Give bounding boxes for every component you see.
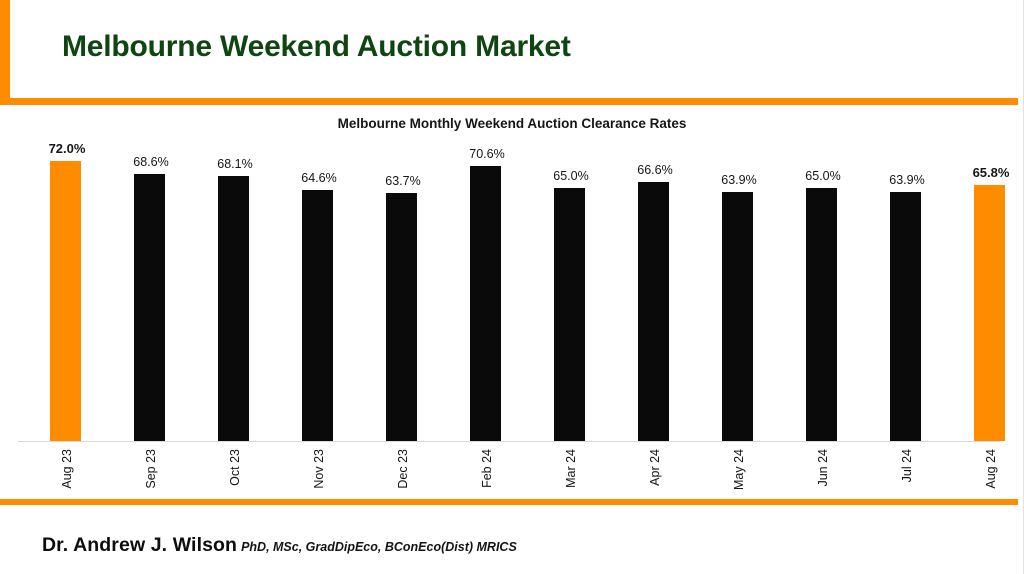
bar-value-label: 72.0% bbox=[25, 141, 109, 156]
footer: Dr. Andrew J. WilsonPhD, MSc, GradDipEco… bbox=[0, 505, 1024, 574]
chart-bar[interactable] bbox=[50, 161, 81, 440]
bar-value-label: 65.8% bbox=[949, 165, 1024, 180]
bar-slot: 63.9% bbox=[697, 146, 781, 441]
chart-bar[interactable] bbox=[134, 174, 165, 440]
bar-slot: 72.0% bbox=[25, 146, 109, 441]
bar-value-label: 65.0% bbox=[781, 169, 865, 183]
bar-slot: 65.0% bbox=[781, 146, 865, 441]
chart-bar[interactable] bbox=[470, 166, 501, 440]
slide: Melbourne Weekend Auction Market Melbour… bbox=[0, 0, 1024, 574]
bar-slot: 68.1% bbox=[193, 146, 277, 441]
chart-category-label: Feb 24 bbox=[445, 449, 529, 491]
author-name: Dr. Andrew J. Wilson bbox=[42, 534, 237, 556]
bar-slot: 68.6% bbox=[109, 146, 193, 441]
chart-category-label: Mar 24 bbox=[529, 449, 613, 491]
chart-bar[interactable] bbox=[302, 190, 333, 441]
chart-bar[interactable] bbox=[554, 188, 585, 440]
bar-value-label: 63.9% bbox=[697, 173, 781, 187]
chart-bar[interactable] bbox=[218, 176, 249, 440]
chart-bar[interactable] bbox=[386, 193, 417, 440]
bar-value-label: 66.6% bbox=[613, 163, 697, 177]
chart-category-label: Nov 23 bbox=[277, 449, 361, 492]
chart-bar[interactable] bbox=[806, 188, 837, 440]
chart-category-label: Aug 23 bbox=[25, 449, 109, 492]
chart-category-label: Jun 24 bbox=[781, 449, 865, 490]
chart-category-label: May 24 bbox=[697, 449, 781, 493]
bar-slot: 70.6% bbox=[445, 146, 529, 441]
header-left-accent-bar bbox=[0, 0, 10, 105]
chart-bar[interactable] bbox=[890, 192, 921, 440]
bar-slot: 66.6% bbox=[613, 146, 697, 441]
bar-value-label: 70.6% bbox=[445, 147, 529, 161]
chart-bar[interactable] bbox=[722, 192, 753, 440]
bar-value-label: 68.6% bbox=[109, 155, 193, 169]
bar-slot: 65.0% bbox=[529, 146, 613, 441]
chart-category-label: Dec 23 bbox=[361, 449, 445, 492]
bar-value-label: 63.9% bbox=[865, 173, 949, 187]
chart-category-label: Oct 23 bbox=[193, 449, 277, 489]
author-line: Dr. Andrew J. WilsonPhD, MSc, GradDipEco… bbox=[42, 534, 517, 557]
bar-slot: 63.9% bbox=[865, 146, 949, 441]
bar-slot: 63.7% bbox=[361, 146, 445, 441]
chart-baseline-axis bbox=[18, 441, 1000, 443]
bar-slot: 65.8% bbox=[949, 146, 1024, 441]
chart-plot-region: 72.0%68.6%68.1%64.6%63.7%70.6%65.0%66.6%… bbox=[18, 147, 1006, 442]
bar-value-label: 65.0% bbox=[529, 169, 613, 183]
bar-value-label: 63.7% bbox=[361, 174, 445, 188]
header-bottom-accent-bar bbox=[0, 98, 1018, 105]
chart-title: Melbourne Monthly Weekend Auction Cleara… bbox=[0, 116, 1024, 131]
chart-category-label: Sep 23 bbox=[109, 449, 193, 492]
chart-category-axis: Aug 23Sep 23Oct 23Nov 23Dec 23Feb 24Mar … bbox=[18, 444, 1006, 500]
header-band: Melbourne Weekend Auction Market bbox=[0, 0, 1018, 105]
page-title: Melbourne Weekend Auction Market bbox=[62, 30, 571, 64]
chart-bar[interactable] bbox=[974, 185, 1005, 440]
chart-category-label: Jul 24 bbox=[865, 449, 949, 485]
chart-bar[interactable] bbox=[638, 182, 669, 441]
chart-category-label: Apr 24 bbox=[613, 449, 697, 489]
bar-value-label: 68.1% bbox=[193, 157, 277, 171]
bar-slot: 64.6% bbox=[277, 146, 361, 441]
bar-value-label: 64.6% bbox=[277, 171, 361, 185]
chart-category-label: Aug 24 bbox=[949, 449, 1024, 492]
author-credentials: PhD, MSc, GradDipEco, BConEco(Dist) MRIC… bbox=[241, 540, 517, 554]
chart-area: Melbourne Monthly Weekend Auction Cleara… bbox=[0, 105, 1024, 500]
